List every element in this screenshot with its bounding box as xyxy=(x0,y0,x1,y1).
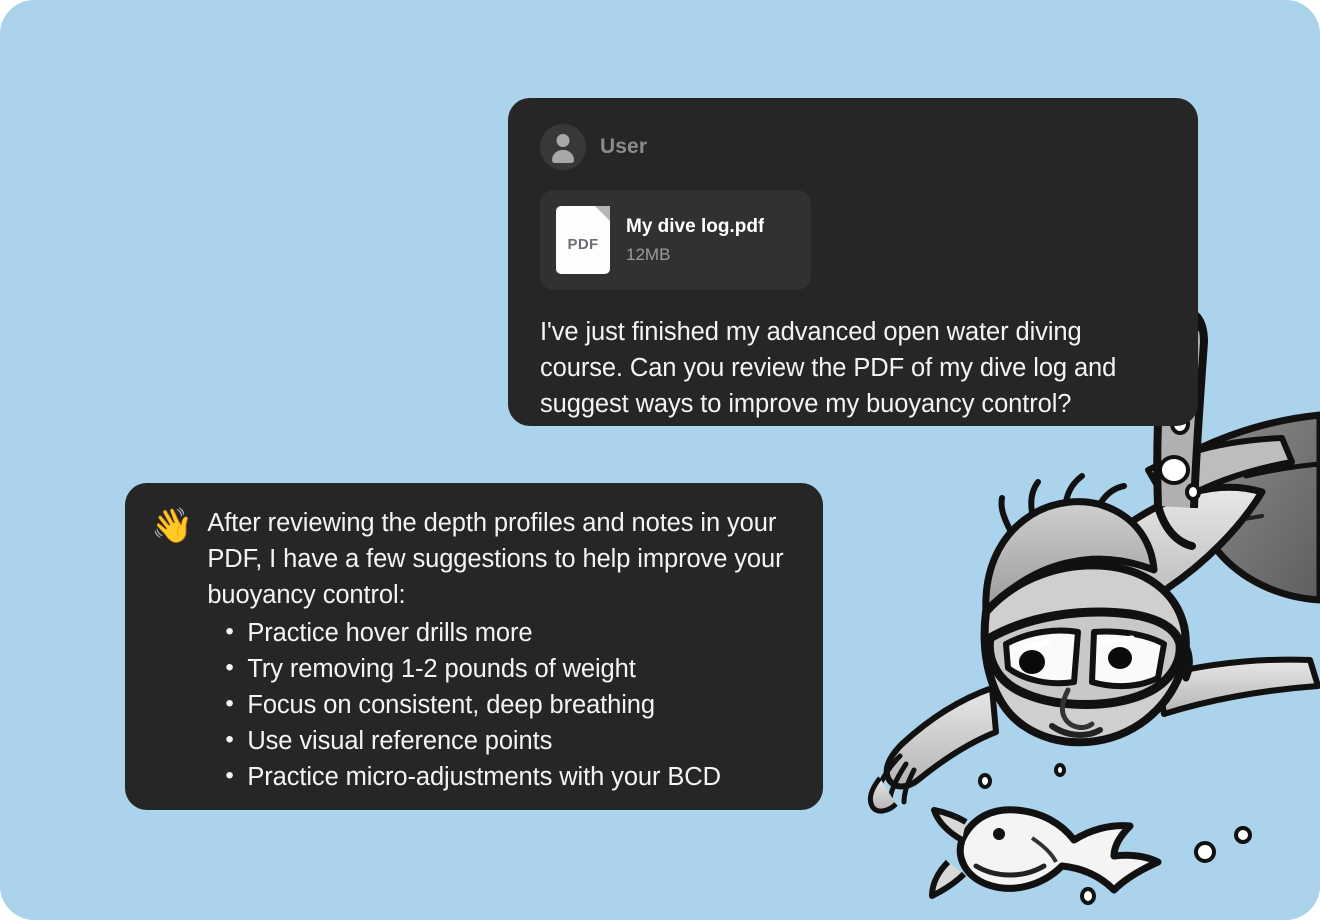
page-root: User PDF My dive log.pdf 12MB I've just … xyxy=(0,0,1320,920)
list-item: Focus on consistent, deep breathing xyxy=(207,687,795,723)
assistant-message-body: 👋 After reviewing the depth profiles and… xyxy=(151,505,795,795)
pdf-attachment-card[interactable]: PDF My dive log.pdf 12MB xyxy=(540,190,811,290)
waving-hand-emoji: 👋 xyxy=(151,507,193,545)
list-item: Practice micro-adjustments with your BCD xyxy=(207,759,795,795)
pdf-file-icon: PDF xyxy=(556,206,610,274)
list-item: Use visual reference points xyxy=(207,723,795,759)
fish-illustration xyxy=(932,810,1158,896)
user-message-header: User xyxy=(540,124,1164,170)
author-name: User xyxy=(600,135,647,159)
person-avatar-icon xyxy=(540,124,586,170)
list-item: Try removing 1-2 pounds of weight xyxy=(207,651,795,687)
attachment-file-name: My dive log.pdf xyxy=(626,215,764,239)
attachment-meta: My dive log.pdf 12MB xyxy=(626,215,764,265)
suggestion-list: Practice hover drills more Try removing … xyxy=(207,615,795,795)
user-message-bubble: User PDF My dive log.pdf 12MB I've just … xyxy=(508,98,1198,426)
attachment-file-size: 12MB xyxy=(626,244,764,265)
assistant-message-bubble: 👋 After reviewing the depth profiles and… xyxy=(125,483,823,810)
user-message-text: I've just finished my advanced open wate… xyxy=(540,314,1164,422)
assistant-intro-text: After reviewing the depth profiles and n… xyxy=(207,505,795,613)
bubble-cluster xyxy=(980,380,1250,903)
list-item: Practice hover drills more xyxy=(207,615,795,651)
file-extension-label: PDF xyxy=(568,236,599,253)
page-fold-corner xyxy=(595,206,610,221)
